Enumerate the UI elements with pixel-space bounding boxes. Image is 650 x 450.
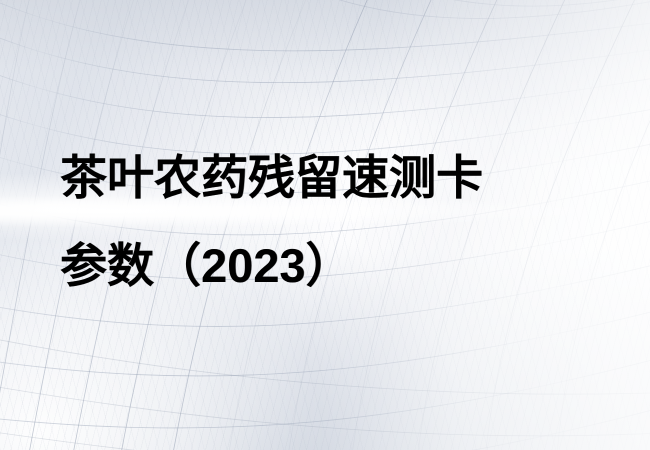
page-title-line-1: 茶叶农药残留速测卡 [60, 134, 483, 222]
title-banner: 茶叶农药残留速测卡 参数（2023） [0, 0, 650, 450]
page-title: 茶叶农药残留速测卡 参数（2023） [60, 134, 483, 310]
page-title-line-2: 参数（2023） [60, 222, 483, 310]
